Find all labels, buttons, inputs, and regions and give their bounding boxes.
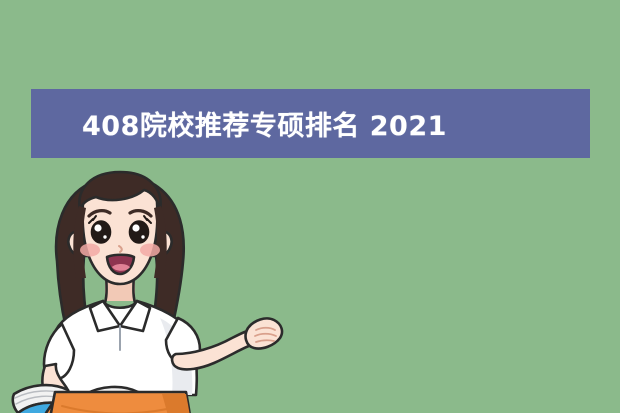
image-canvas: 408院校推荐专硕排名 2021	[0, 0, 620, 413]
blush-left	[80, 244, 100, 257]
student-girl-illustration-svg	[0, 158, 300, 413]
title-banner: 408院校推荐专硕排名 2021	[31, 89, 590, 158]
skirt-shadow	[162, 394, 196, 413]
illustration-student-girl	[0, 158, 300, 413]
page-title: 408院校推荐专硕排名 2021	[82, 104, 447, 143]
blush-right	[140, 244, 160, 257]
